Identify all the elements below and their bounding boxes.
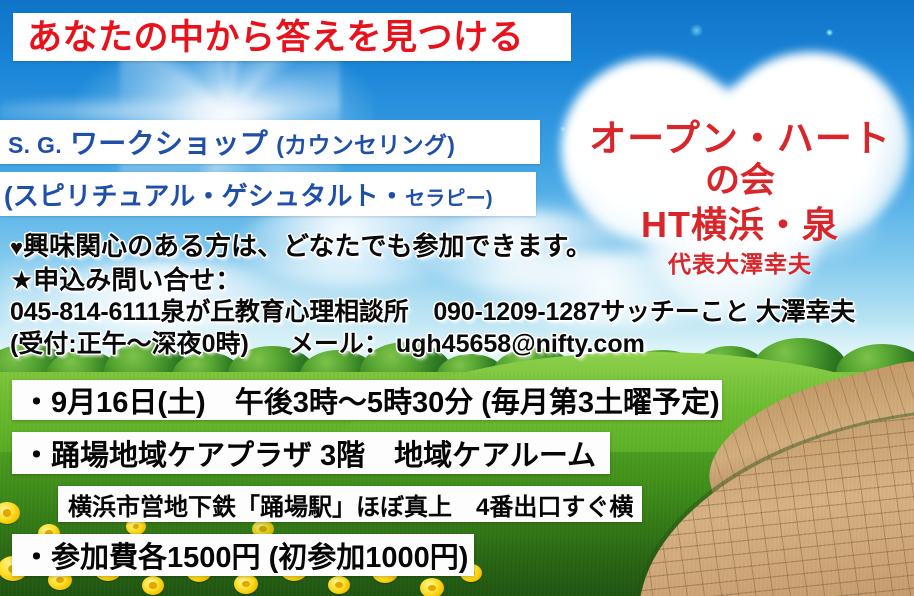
mail-label: メール：	[289, 330, 389, 358]
workshop-prefix: S. G.	[8, 132, 62, 158]
open-invitation-line: ♥興味関心のある方は、どなたでも参加できます。	[10, 226, 592, 263]
subtitle-text: (スピリチュアル・ゲシュタルト・セラピー)	[4, 176, 493, 213]
subtitle-small: セラピー)	[405, 188, 493, 210]
subtitle-banner: (スピリチュアル・ゲシュタルト・セラピー)	[0, 172, 536, 216]
telephone-line[interactable]: 045-814-6111泉が丘教育心理相談所 090-1209-1287サッチー…	[10, 292, 855, 328]
poster-title: あなたの中から答えを見つける	[27, 20, 524, 55]
event-fee-band: ・参加費各1500円 (初参加1000円)	[12, 534, 474, 576]
org-representative: 代表大澤幸夫	[575, 245, 905, 279]
flower	[328, 576, 350, 594]
workshop-title: S. G. ワークショップ (カウンセリング)	[8, 122, 455, 162]
open-invitation-text: 興味関心のある方は、どなたでも参加できます。	[23, 231, 592, 261]
flower	[142, 576, 164, 595]
event-venue-band: ・踊場地域ケアプラザ 3階 地域ケアルーム	[12, 432, 610, 474]
workshop-paren: (カウンセリング)	[276, 132, 455, 158]
heart-icon: ♥	[10, 235, 23, 260]
flower	[420, 578, 444, 596]
title-banner: あなたの中から答えを見つける	[13, 13, 571, 61]
reception-hours: (受付:正午〜深夜0時)	[10, 330, 249, 358]
event-date-band: ・9月16日(土) 午後3時〜5時30分 (毎月第3土曜予定)	[12, 380, 722, 420]
mail-line: (受付:正午〜深夜0時)メール： ugh45658@nifty.com	[10, 324, 645, 360]
flower	[0, 502, 20, 524]
org-name-line3: HT横浜・泉	[575, 196, 905, 248]
workshop-main: ワークショップ	[70, 128, 268, 159]
flower	[234, 574, 258, 594]
mail-address[interactable]: ugh45658@nifty.com	[396, 330, 645, 358]
workshop-banner: S. G. ワークショップ (カウンセリング)	[0, 120, 540, 164]
event-access-band: 横浜市営地下鉄「踊場駅」ほぼ真上 4番出口すぐ横	[58, 486, 642, 522]
subtitle-main: (スピリチュアル・ゲシュタルト・	[4, 181, 405, 211]
poster-canvas: あなたの中から答えを見つける S. G. ワークショップ (カウンセリング) (…	[0, 0, 914, 596]
